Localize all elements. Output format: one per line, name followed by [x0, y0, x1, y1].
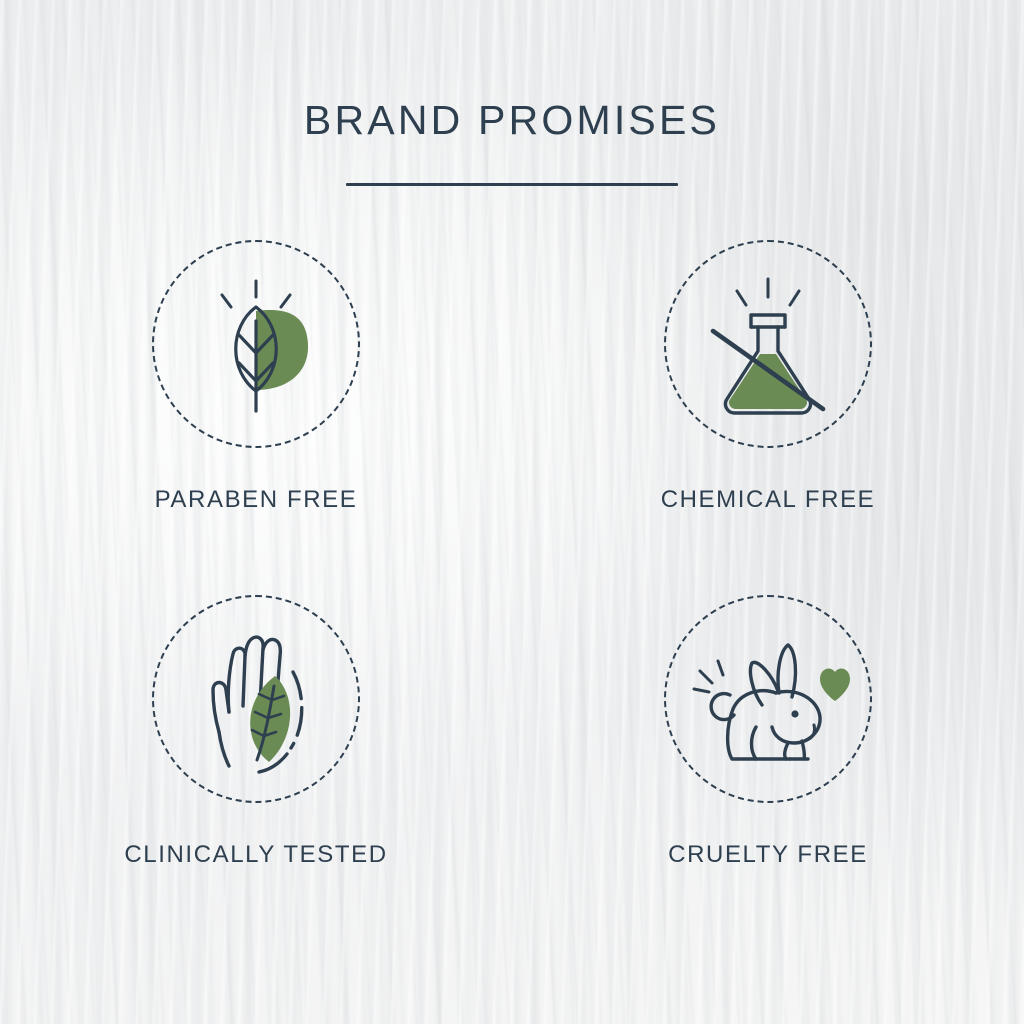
bunny-heart-icon	[678, 609, 858, 789]
brand-promises-poster: BRAND PROMISES	[0, 0, 1024, 1024]
no-chemical-flask-icon	[683, 259, 853, 429]
promise-item-paraben-free[interactable]: PARABEN FREE	[0, 240, 512, 595]
title-underline-divider	[346, 183, 678, 186]
promise-item-clinically-tested[interactable]: CLINICALLY TESTED	[0, 595, 512, 950]
promise-item-chemical-free[interactable]: CHEMICAL FREE	[512, 240, 1024, 595]
hand-holding-leaf-icon	[171, 614, 341, 784]
icon-circle-cruelty-free	[664, 595, 872, 803]
promise-label: CLINICALLY TESTED	[124, 841, 387, 869]
promise-grid: PARABEN FREE	[0, 240, 1024, 950]
icon-circle-clinically-tested	[152, 595, 360, 803]
icon-circle-paraben-free	[152, 240, 360, 448]
page-title: BRAND PROMISES	[0, 100, 1024, 141]
promise-label: CHEMICAL FREE	[661, 486, 876, 514]
promise-label: CRUELTY FREE	[668, 841, 868, 869]
promise-item-cruelty-free[interactable]: CRUELTY FREE	[512, 595, 1024, 950]
leaf-icon	[171, 259, 341, 429]
promise-label: PARABEN FREE	[155, 486, 358, 514]
poster-header: BRAND PROMISES	[0, 100, 1024, 186]
icon-circle-chemical-free	[664, 240, 872, 448]
